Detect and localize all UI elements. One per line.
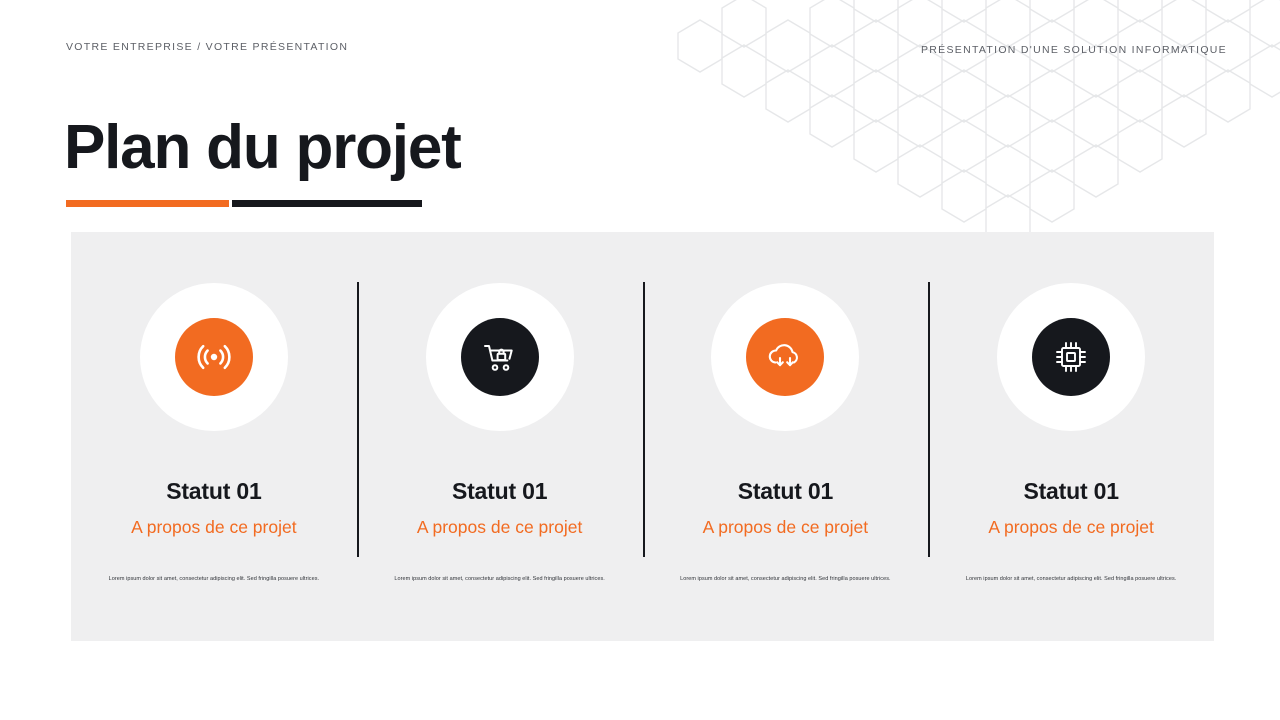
icon-circle [997, 283, 1145, 431]
status-column: Statut 01 A propos de ce projet Lorem ip… [928, 232, 1214, 641]
status-body: Lorem ipsum dolor sit amet, consectetur … [104, 575, 324, 583]
status-columns: Statut 01 A propos de ce projet Lorem ip… [71, 232, 1214, 641]
status-column: Statut 01 A propos de ce projet Lorem ip… [643, 232, 929, 641]
status-subtitle: A propos de ce projet [988, 517, 1153, 538]
status-subtitle: A propos de ce projet [131, 517, 296, 538]
broadcast-signal-icon [194, 337, 234, 377]
icon-circle [426, 283, 574, 431]
content-panel: Statut 01 A propos de ce projet Lorem ip… [71, 232, 1214, 641]
microchip-icon [1051, 337, 1091, 377]
icon-badge [1032, 318, 1110, 396]
header-left-label: VOTRE ENTREPRISE / VOTRE PRÉSENTATION [66, 41, 348, 53]
status-column: Statut 01 A propos de ce projet Lorem ip… [357, 232, 643, 641]
status-title: Statut 01 [166, 478, 261, 505]
page-title: Plan du projet [64, 115, 461, 180]
status-body: Lorem ipsum dolor sit amet, consectetur … [390, 575, 610, 583]
icon-badge [461, 318, 539, 396]
title-rule-dark [232, 200, 422, 207]
status-subtitle: A propos de ce projet [703, 517, 868, 538]
status-subtitle: A propos de ce projet [417, 517, 582, 538]
status-title: Statut 01 [738, 478, 833, 505]
icon-badge [746, 318, 824, 396]
status-title: Statut 01 [452, 478, 547, 505]
slide: VOTRE ENTREPRISE / VOTRE PRÉSENTATION PR… [0, 0, 1280, 720]
shopping-cart-lock-icon [480, 337, 520, 377]
title-rule-orange [66, 200, 229, 207]
status-column: Statut 01 A propos de ce projet Lorem ip… [71, 232, 357, 641]
icon-circle [140, 283, 288, 431]
cloud-download-icon [764, 336, 806, 378]
icon-badge [175, 318, 253, 396]
header-right-label: PRÉSENTATION D'UNE SOLUTION INFORMATIQUE [897, 42, 1227, 59]
status-body: Lorem ipsum dolor sit amet, consectetur … [961, 575, 1181, 583]
status-title: Statut 01 [1023, 478, 1118, 505]
status-body: Lorem ipsum dolor sit amet, consectetur … [675, 575, 895, 583]
icon-circle [711, 283, 859, 431]
